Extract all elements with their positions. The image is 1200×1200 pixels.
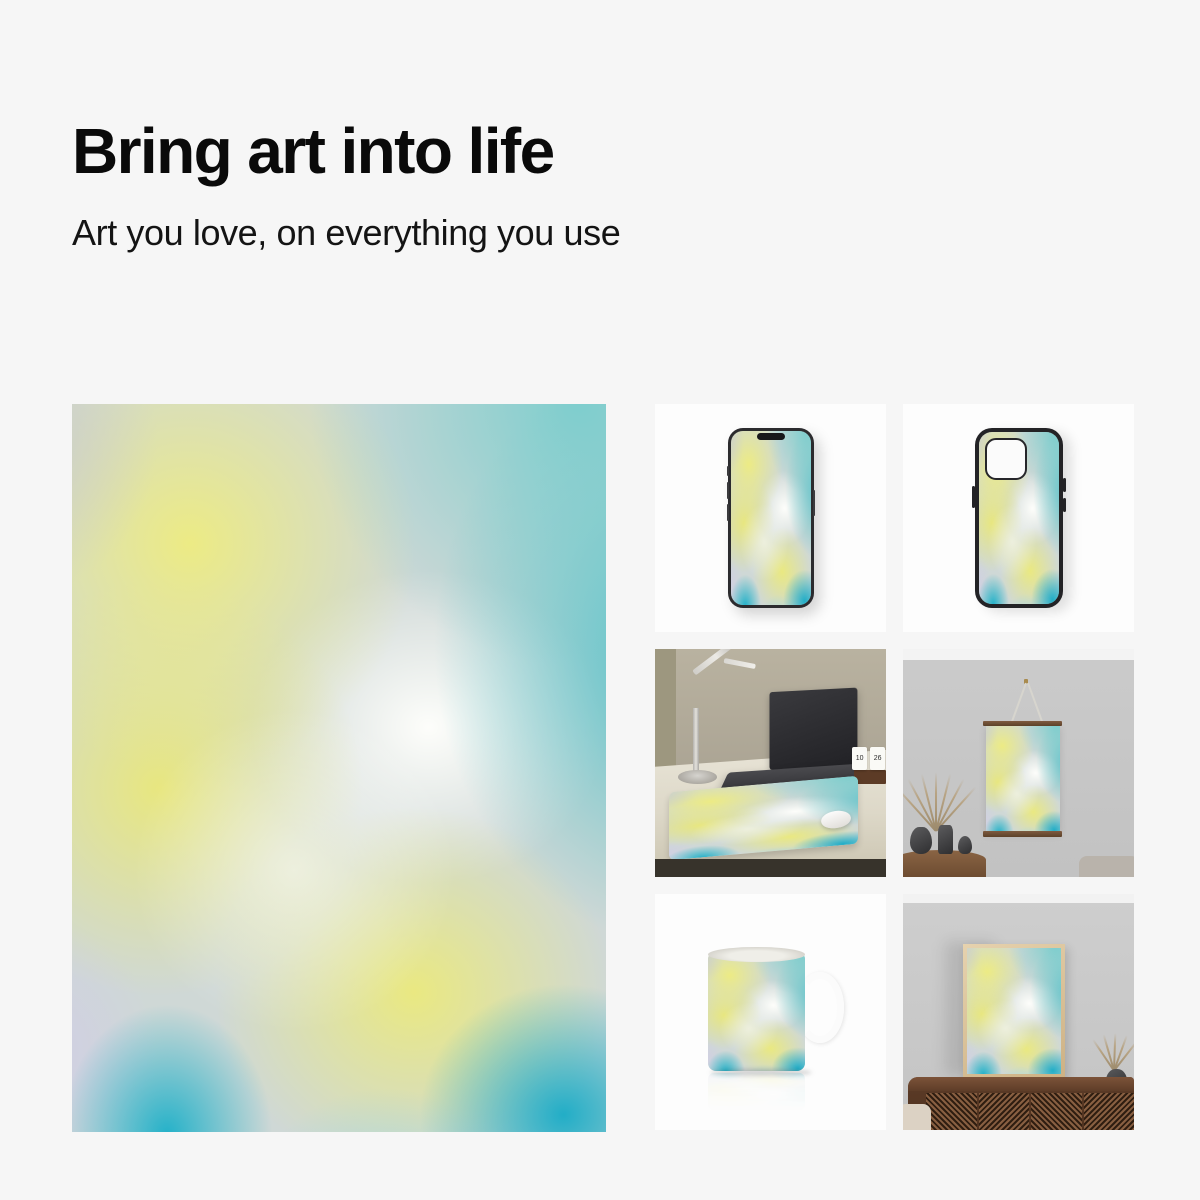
phone-device [728,428,814,608]
phone-volume-down-button [727,504,729,521]
product-mug[interactable] [655,894,886,1130]
framed-art-print [967,948,1061,1075]
wooden-frame [963,944,1065,1079]
page-title: Bring art into life [72,118,972,185]
phone-case-back [979,432,1059,604]
sideboard-door [926,1093,976,1130]
sideboard-doors [926,1093,1134,1130]
abstract-gradient-artwork [72,404,606,1132]
product-hanging-poster[interactable] [903,649,1134,877]
poster-rail-top [983,721,1063,726]
flip-calendar-day: 26 [870,747,885,770]
flip-calendar-stand [854,770,886,784]
page-subtitle: Art you love, on everything you use [72,211,972,254]
dynamic-island-icon [757,433,785,440]
sideboard-door [979,1093,1029,1130]
flip-calendar-month: 10 [852,747,867,770]
product-mockup-grid: 10 26 [655,404,1134,1132]
product-desk-mat[interactable]: 10 26 [655,649,886,877]
hanging-poster-print [986,725,1060,832]
phone-mute-switch [727,466,729,476]
abstract-gradient-artwork [731,431,811,605]
mug-reflection [708,1073,805,1111]
phone-screen [731,431,811,605]
case-volume-cutout [972,486,975,508]
abstract-gradient-artwork [708,1073,805,1111]
abstract-gradient-artwork [967,948,1061,1075]
mug-scene [655,894,886,1130]
pampas-grass-icon [905,772,965,831]
hanging-poster-scene [903,649,1134,877]
sideboard-door [1031,1093,1081,1130]
desk-lamp-base [678,770,717,784]
armchair-corner [903,1104,931,1130]
framed-print-scene [903,894,1134,1130]
laptop-screen [769,688,857,775]
ceiling-strip [903,894,1134,903]
mug-body [708,953,805,1071]
phone-power-button [813,490,815,516]
phone-scene [655,404,886,632]
header: Bring art into life Art you love, on eve… [72,118,972,254]
abstract-gradient-artwork [708,953,805,1071]
sideboard-door [1084,1093,1134,1130]
vase-large [910,827,932,854]
product-phone-case[interactable] [903,404,1134,632]
poster-rail-bottom [983,831,1063,836]
pampas-grass-icon [1095,1033,1132,1071]
phone-case-scene [903,404,1134,632]
case-button-cutout-upper [1063,478,1066,492]
poster-rope-left [1011,683,1026,722]
vase-medium [938,825,953,855]
product-phone-wallpaper[interactable] [655,404,886,632]
desk-underside-shadow [655,859,886,877]
phone-case-device [975,428,1063,608]
sofa-corner [1079,856,1134,877]
sideboard-top-surface [908,1077,1134,1091]
abstract-gradient-artwork [986,725,1060,832]
camera-cutout-icon [985,438,1027,480]
vase-small [958,836,972,854]
case-button-cutout-lower [1063,498,1066,512]
page-root: Bring art into life Art you love, on eve… [0,0,1200,1200]
mug-rim [708,947,805,962]
product-framed-print[interactable] [903,894,1134,1130]
ceiling-strip [903,649,1134,660]
desk-scene: 10 26 [655,649,886,877]
phone-volume-up-button [727,482,729,499]
hero-artwork-panel[interactable] [72,404,606,1132]
desk-lamp-pole [693,708,699,774]
poster-rope-right [1027,683,1042,722]
